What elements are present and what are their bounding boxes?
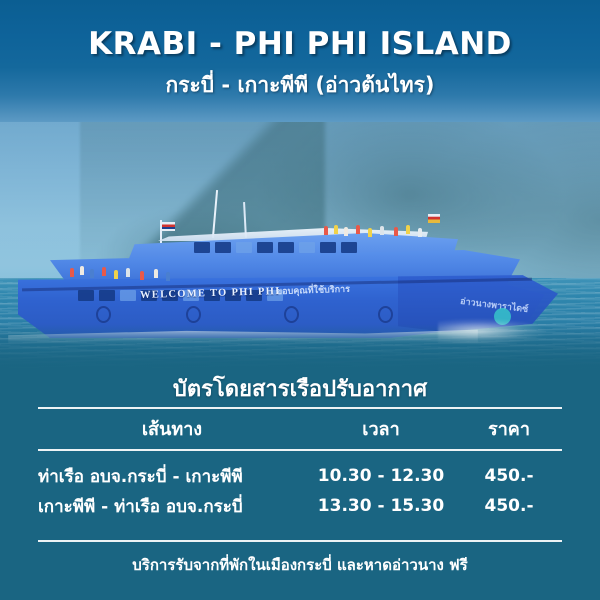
cell-price: 450.- <box>456 496 562 516</box>
column-header-price: ราคา <box>456 414 562 443</box>
passenger <box>334 225 338 234</box>
section-title: บัตรโดยสารเรือปรับอากาศ <box>0 371 600 406</box>
passenger <box>102 267 106 276</box>
table-row: เกาะพีพี - ท่าเรือ อบจ.กระบี่ 13.30 - 15… <box>38 491 562 521</box>
table-rule-bottom <box>38 540 562 542</box>
passenger <box>140 271 144 280</box>
photo-fade-overlay <box>0 324 600 370</box>
window <box>194 242 210 253</box>
window <box>341 242 357 253</box>
fender-icon <box>284 306 299 323</box>
window <box>215 242 231 253</box>
schedule-table: เส้นทาง เวลา ราคา ท่าเรือ อบจ.กระบี่ - เ… <box>38 407 562 521</box>
window <box>257 242 273 253</box>
window <box>236 242 252 253</box>
window <box>78 290 94 301</box>
page-title-thai: กระบี่ - เกาะพีพี (อ่าวต้นไทร) <box>0 62 600 102</box>
cell-time: 10.30 - 12.30 <box>306 466 456 486</box>
passenger <box>166 272 170 281</box>
column-header-route: เส้นทาง <box>38 414 306 443</box>
ferry-photo: WELCOME TO PHI PHI ขอบคุณที่ใช้บริการ อ่… <box>0 110 600 370</box>
passenger <box>406 225 410 234</box>
page-title-english: KRABI - PHI PHI ISLAND <box>0 0 600 62</box>
passenger <box>80 266 84 275</box>
passenger <box>368 228 372 237</box>
thai-flag-icon <box>162 222 175 231</box>
window <box>120 290 136 301</box>
passenger <box>126 268 130 277</box>
bow-flag-icon <box>428 214 440 223</box>
ferry-schedule-poster: WELCOME TO PHI PHI ขอบคุณที่ใช้บริการ อ่… <box>0 0 600 600</box>
hull-thai-text: ขอบคุณที่ใช้บริการ <box>276 282 350 299</box>
column-header-time: เวลา <box>306 414 456 443</box>
passenger <box>154 269 158 278</box>
table-header-row: เส้นทาง เวลา ราคา <box>38 407 562 449</box>
passenger <box>70 268 74 277</box>
passenger <box>324 226 328 235</box>
passenger <box>380 226 384 235</box>
table-row: ท่าเรือ อบจ.กระบี่ - เกาะพีพี 10.30 - 12… <box>38 461 562 491</box>
passenger <box>418 228 422 237</box>
poster-header: KRABI - PHI PHI ISLAND กระบี่ - เกาะพีพี… <box>0 0 600 122</box>
upper-window-row <box>194 242 357 253</box>
cell-time: 13.30 - 15.30 <box>306 496 456 516</box>
passenger <box>394 227 398 236</box>
cell-price: 450.- <box>456 466 562 486</box>
window <box>320 242 336 253</box>
window <box>299 242 315 253</box>
cell-route: เกาะพีพี - ท่าเรือ อบจ.กระบี่ <box>38 493 306 520</box>
passenger <box>344 227 348 236</box>
window <box>278 242 294 253</box>
window <box>99 290 115 301</box>
passenger <box>356 225 360 234</box>
fender-icon <box>96 306 111 323</box>
ticket-panel: บัตรโดยสารเรือปรับอากาศ เส้นทาง เวลา ราค… <box>0 355 600 600</box>
cell-route: ท่าเรือ อบจ.กระบี่ - เกาะพีพี <box>38 463 306 490</box>
passenger <box>90 269 94 278</box>
footer-note: บริการรับจากที่พักในเมืองกระบี่ และหาดอ่… <box>0 553 600 577</box>
fender-icon <box>186 306 201 323</box>
passenger <box>114 270 118 279</box>
fender-icon <box>378 306 393 323</box>
